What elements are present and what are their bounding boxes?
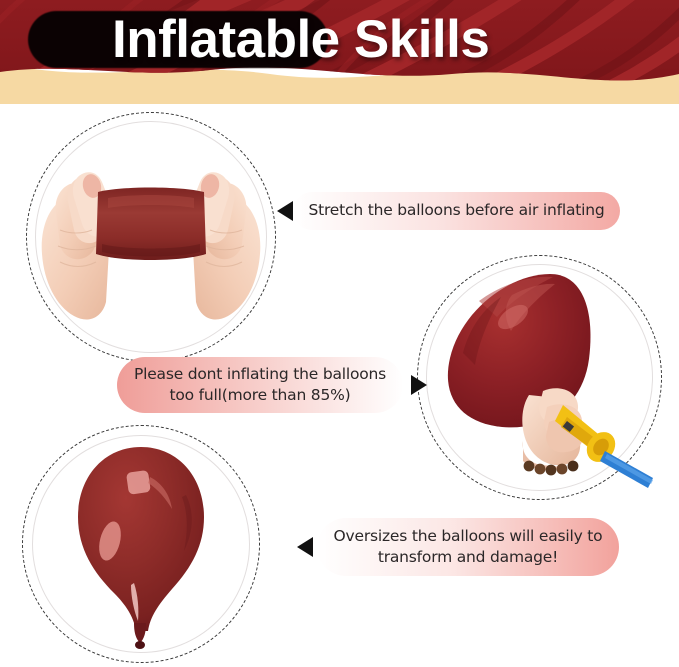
photo-oversized-balloon: [22, 425, 260, 663]
balloon-body: [78, 447, 204, 649]
pump-hose: [600, 451, 653, 488]
callout-oversize: Oversizes the balloons will easily to tr…: [297, 518, 619, 576]
callout-inflate-text: Please dont inflating the balloons too f…: [117, 357, 403, 413]
callout-inflate: Please dont inflating the balloons too f…: [117, 357, 427, 413]
page-title: Inflatable Skills: [112, 6, 672, 76]
callout-oversize-text: Oversizes the balloons will easily to tr…: [317, 518, 619, 576]
callout-stretch-text: Stretch the balloons before air inflatin…: [293, 192, 620, 230]
stretched-balloon-band: [96, 188, 206, 261]
callout-oversize-line1: Oversizes the balloons will easily to: [334, 527, 603, 545]
callout-inflate-line1: Please dont inflating the balloons: [134, 365, 386, 383]
callout-stretch: Stretch the balloons before air inflatin…: [277, 192, 620, 230]
callout-inflate-line2: too full(more than 85%): [169, 386, 350, 404]
arrow-left-icon: [297, 537, 313, 557]
inflated-balloon-illustration: [417, 255, 662, 500]
callout-oversize-line2: transform and damage!: [378, 548, 558, 566]
hands-stretching-illustration: [26, 112, 276, 362]
oversized-balloon-illustration: [22, 425, 260, 663]
photo-inflated-balloon-with-pump: [417, 255, 662, 500]
arrow-right-icon: [411, 375, 427, 395]
header-banner: Inflatable Skills: [0, 0, 679, 104]
arrow-left-icon: [277, 201, 293, 221]
photo-hands-stretching-balloon: [26, 112, 276, 362]
